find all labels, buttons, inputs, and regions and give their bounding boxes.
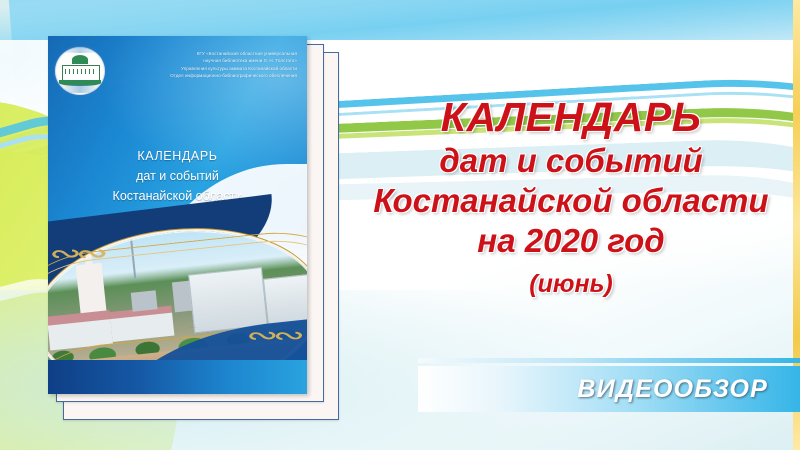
cover-header: КГУ «Костанайская областная универсальна… bbox=[48, 42, 307, 96]
org-line-1: КГУ «Костанайская областная универсальна… bbox=[112, 50, 297, 57]
cover-title-line-2: дат и событий bbox=[48, 166, 307, 186]
headline-line-1: КАЛЕНДАРЬ bbox=[345, 96, 797, 139]
slide-headline: КАЛЕНДАРЬ дат и событий Костанайской обл… bbox=[345, 96, 797, 298]
org-line-4: Отдел информационно-библиографического о… bbox=[112, 72, 297, 79]
emblem-dome bbox=[72, 55, 88, 64]
headline-line-4: на 2020 год bbox=[345, 224, 797, 259]
emblem-rim-text-bottom bbox=[54, 84, 106, 93]
org-line-3: Управления культуры акимата Костанайской… bbox=[112, 65, 297, 72]
org-line-2: научная библиотека имени Л. Н. Толстого» bbox=[112, 57, 297, 64]
headline-line-2: дат и событий bbox=[345, 144, 797, 179]
video-banner-label: ВИДЕООБЗОР bbox=[577, 375, 768, 404]
headline-month: (июнь) bbox=[345, 271, 797, 298]
cover-bottom-band bbox=[48, 360, 307, 394]
book-cover: КГУ «Костанайская областная универсальна… bbox=[48, 36, 307, 394]
presentation-slide: КГУ «Костанайская областная универсальна… bbox=[0, 0, 800, 450]
cover-organization-block: КГУ «Костанайская областная универсальна… bbox=[112, 46, 299, 80]
cover-title-line-1: КАЛЕНДАРЬ bbox=[48, 146, 307, 166]
kazakh-ornament-right-icon: ∾∾ bbox=[247, 323, 300, 348]
emblem-rim-text-top bbox=[54, 47, 106, 53]
video-banner-accent-stripe bbox=[418, 358, 800, 363]
library-emblem-icon bbox=[54, 46, 106, 96]
kazakh-ornament-left-icon: ∾∾ bbox=[49, 240, 102, 266]
video-banner: ВИДЕООБЗОР bbox=[418, 366, 800, 412]
headline-line-3: Костанайской области bbox=[345, 184, 797, 219]
